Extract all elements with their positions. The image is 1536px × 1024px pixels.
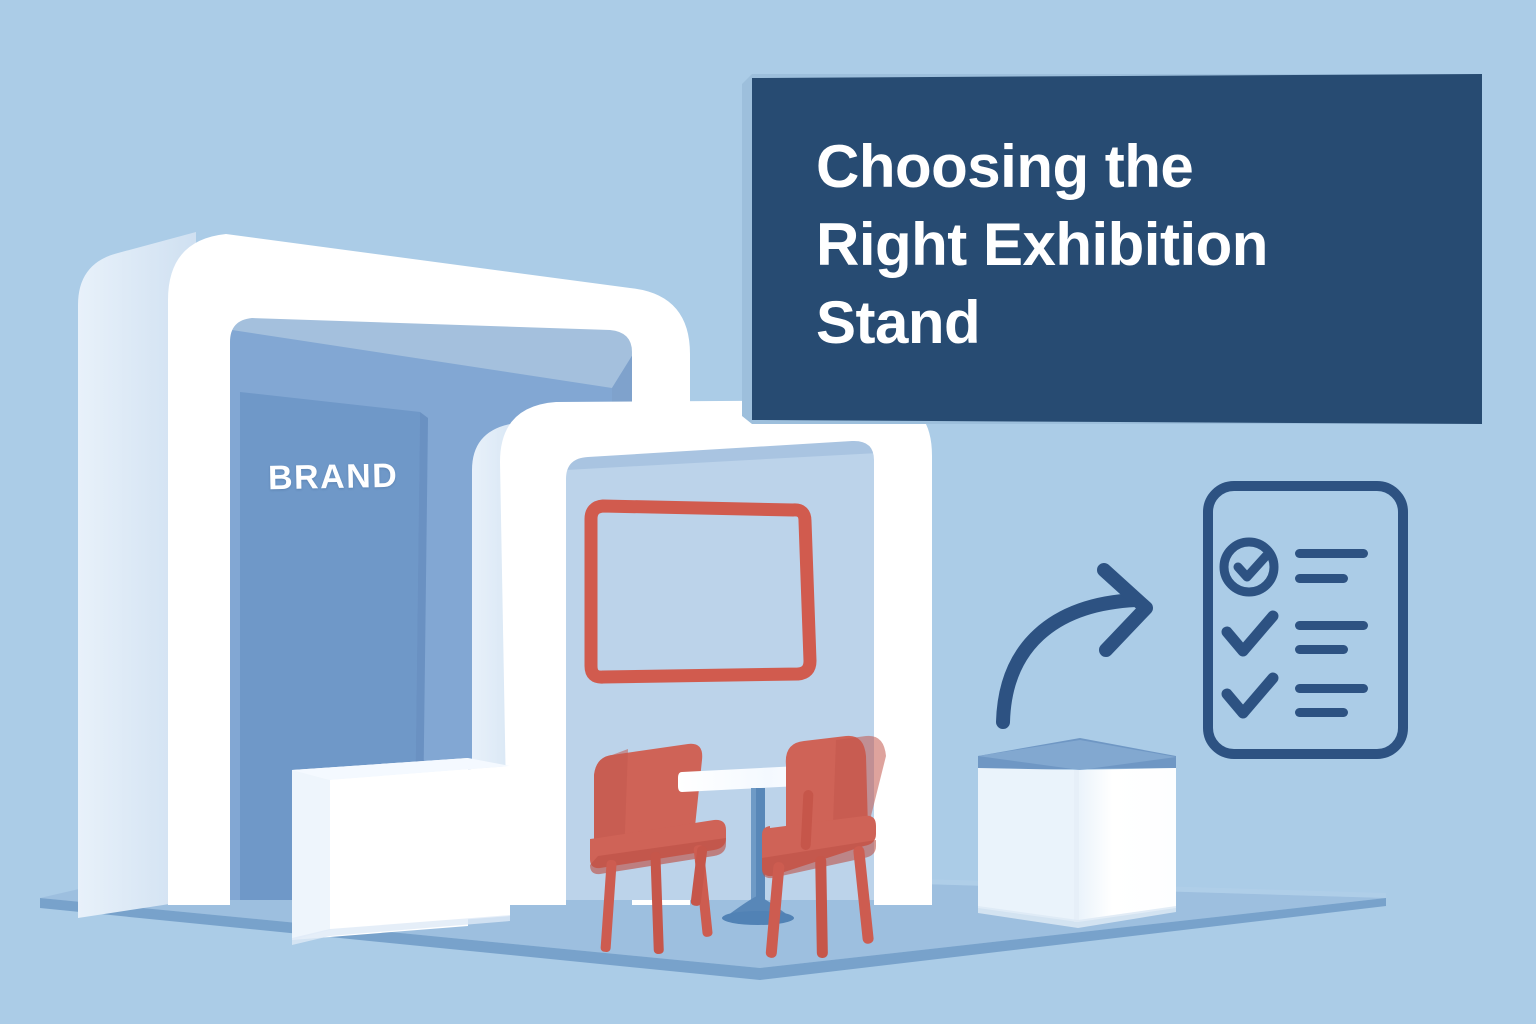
right-counter bbox=[978, 738, 1176, 928]
title-panel bbox=[742, 74, 1482, 424]
exhibition-stand-illustration bbox=[0, 0, 1536, 1024]
illustration-canvas: Choosing the Right Exhibition Stand BRAN… bbox=[0, 0, 1536, 1024]
left-counter bbox=[292, 758, 510, 945]
